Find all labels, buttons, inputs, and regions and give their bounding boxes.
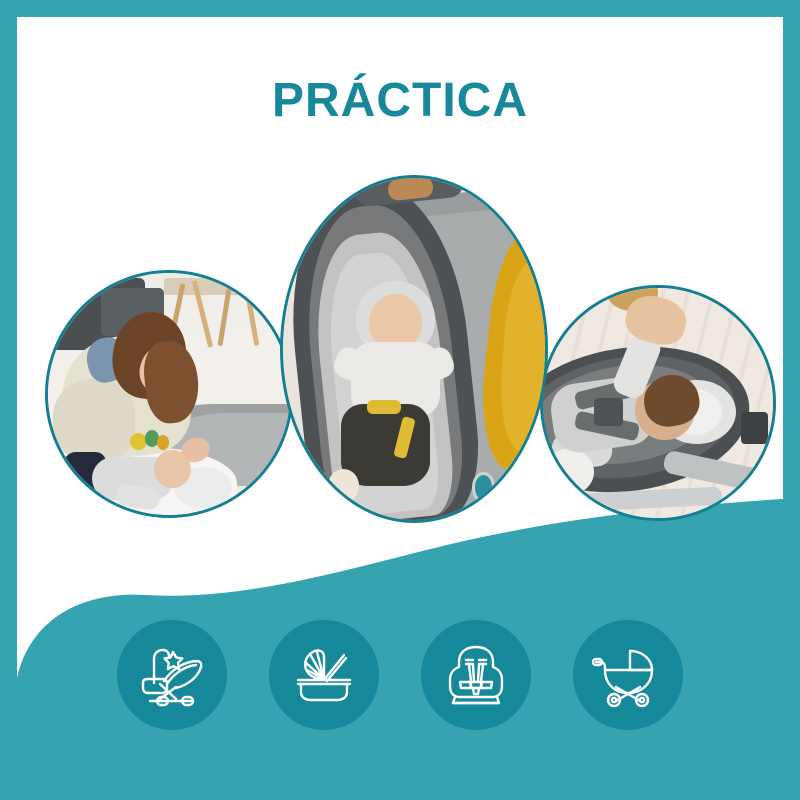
photo-circle-center [280,175,548,523]
photo-right-scene [543,288,773,518]
icon-circle-carrycot[interactable] [269,620,379,730]
baby-bouncer-icon [136,643,208,707]
feature-icon-row [0,620,800,730]
photo-center-scene [283,178,545,520]
photo-circle-right [540,285,776,521]
pram-icon [592,643,664,707]
photo-circle-left [45,270,293,518]
icon-circle-pram[interactable] [573,620,683,730]
carrycot-icon [288,643,360,707]
icon-circle-baby-bouncer[interactable] [117,620,227,730]
car-seat-icon [440,643,512,707]
page-title: PRÁCTICA [17,73,783,128]
photo-left-scene [48,273,290,515]
icon-circle-car-seat[interactable] [421,620,531,730]
poster-root: PRÁCTICA [0,0,800,800]
